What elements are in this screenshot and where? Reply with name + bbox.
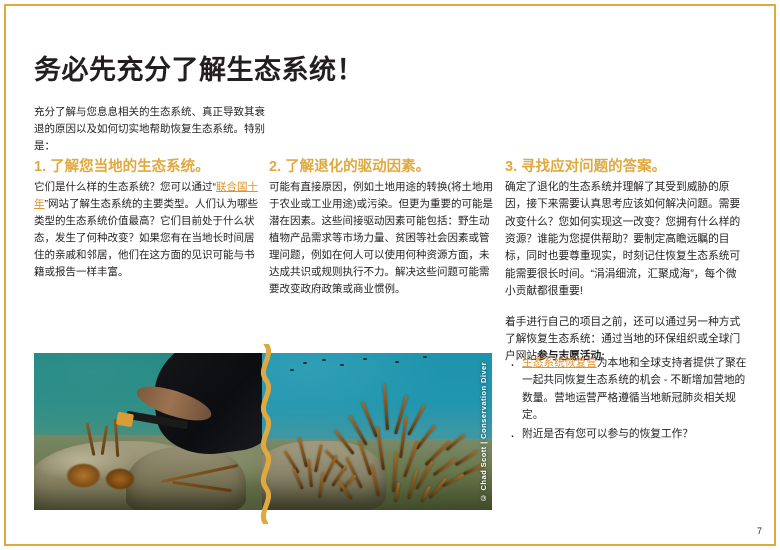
column-one-text-after-link: ”网站了解生态系统的主要类型。人们认为哪些类型的生态系统价值最高？它们目前处于什… bbox=[34, 198, 258, 278]
volunteer-bullet-list: 生态系统恢复营为本地和全球支持者提供了聚在一起共同恢复生态系统的机会 - 不断增… bbox=[505, 355, 747, 446]
photo-right-fish bbox=[290, 369, 294, 371]
photo-left-reef-rock-secondary bbox=[126, 447, 246, 510]
photo-left-coral-clump-secondary bbox=[105, 468, 135, 490]
page-title: 务必先充分了解生态系统！ bbox=[34, 48, 364, 87]
photo-left-coral-clump bbox=[66, 463, 101, 488]
document-page: 务必先充分了解生态系统！ 充分了解与您息息相关的生态系统、真正导致其衰退的原因以… bbox=[0, 0, 780, 550]
column-one-heading: 1. 了解您当地的生态系统。 bbox=[34, 158, 262, 176]
column-two: 2. 了解退化的驱动因素。 可能有直接原因，例如土地用途的转换(将土地用于农业或… bbox=[269, 158, 497, 298]
list-item: 生态系统恢复营为本地和全球支持者提供了聚在一起共同恢复生态系统的机会 - 不断增… bbox=[505, 355, 747, 424]
restoration-camp-link[interactable]: 生态系统恢复营 bbox=[522, 357, 597, 369]
column-three: 3. 寻找应对问题的答案。 确定了退化的生态系统并理解了其受到威胁的原因，接下来… bbox=[505, 158, 745, 300]
staghorn-coral-colony-photo: © Chad Scott | Conservation Diver bbox=[262, 353, 492, 510]
photo-credit: © Chad Scott | Conservation Diver bbox=[479, 362, 488, 502]
column-three-heading: 3. 寻找应对问题的答案。 bbox=[505, 158, 745, 176]
column-one-text-before-link: 它们是什么样的生态系统？您可以通过“ bbox=[34, 181, 216, 193]
diver-restoring-coral-photo bbox=[34, 353, 264, 510]
page-number: 7 bbox=[757, 526, 762, 536]
list-item-text: 附近是否有您可以参与的恢复工作？ bbox=[522, 428, 693, 440]
photo-right-fish bbox=[363, 358, 367, 360]
intro-paragraph: 充分了解与您息息相关的生态系统、真正导致其衰退的原因以及如何切实地帮助恢复生态系… bbox=[34, 104, 266, 155]
photo-strip: © Chad Scott | Conservation Diver bbox=[34, 353, 492, 510]
column-one-body: 它们是什么样的生态系统？您可以通过“联合国十年”网站了解生态系统的主要类型。人们… bbox=[34, 179, 262, 281]
column-two-heading: 2. 了解退化的驱动因素。 bbox=[269, 158, 497, 176]
photo-left-hammer-head bbox=[116, 411, 134, 426]
list-item: 附近是否有您可以参与的恢复工作？ bbox=[505, 426, 747, 443]
column-three-body: 确定了退化的生态系统并理解了其受到威胁的原因，接下来需要认真思考应该如何解决问题… bbox=[505, 179, 745, 300]
photo-right-staghorn-coral bbox=[276, 381, 488, 507]
column-one: 1. 了解您当地的生态系统。 它们是什么样的生态系统？您可以通过“联合国十年”网… bbox=[34, 158, 262, 281]
column-two-body: 可能有直接原因，例如土地用途的转换(将土地用于农业或工业用途)或污染。但更为重要… bbox=[269, 179, 497, 298]
